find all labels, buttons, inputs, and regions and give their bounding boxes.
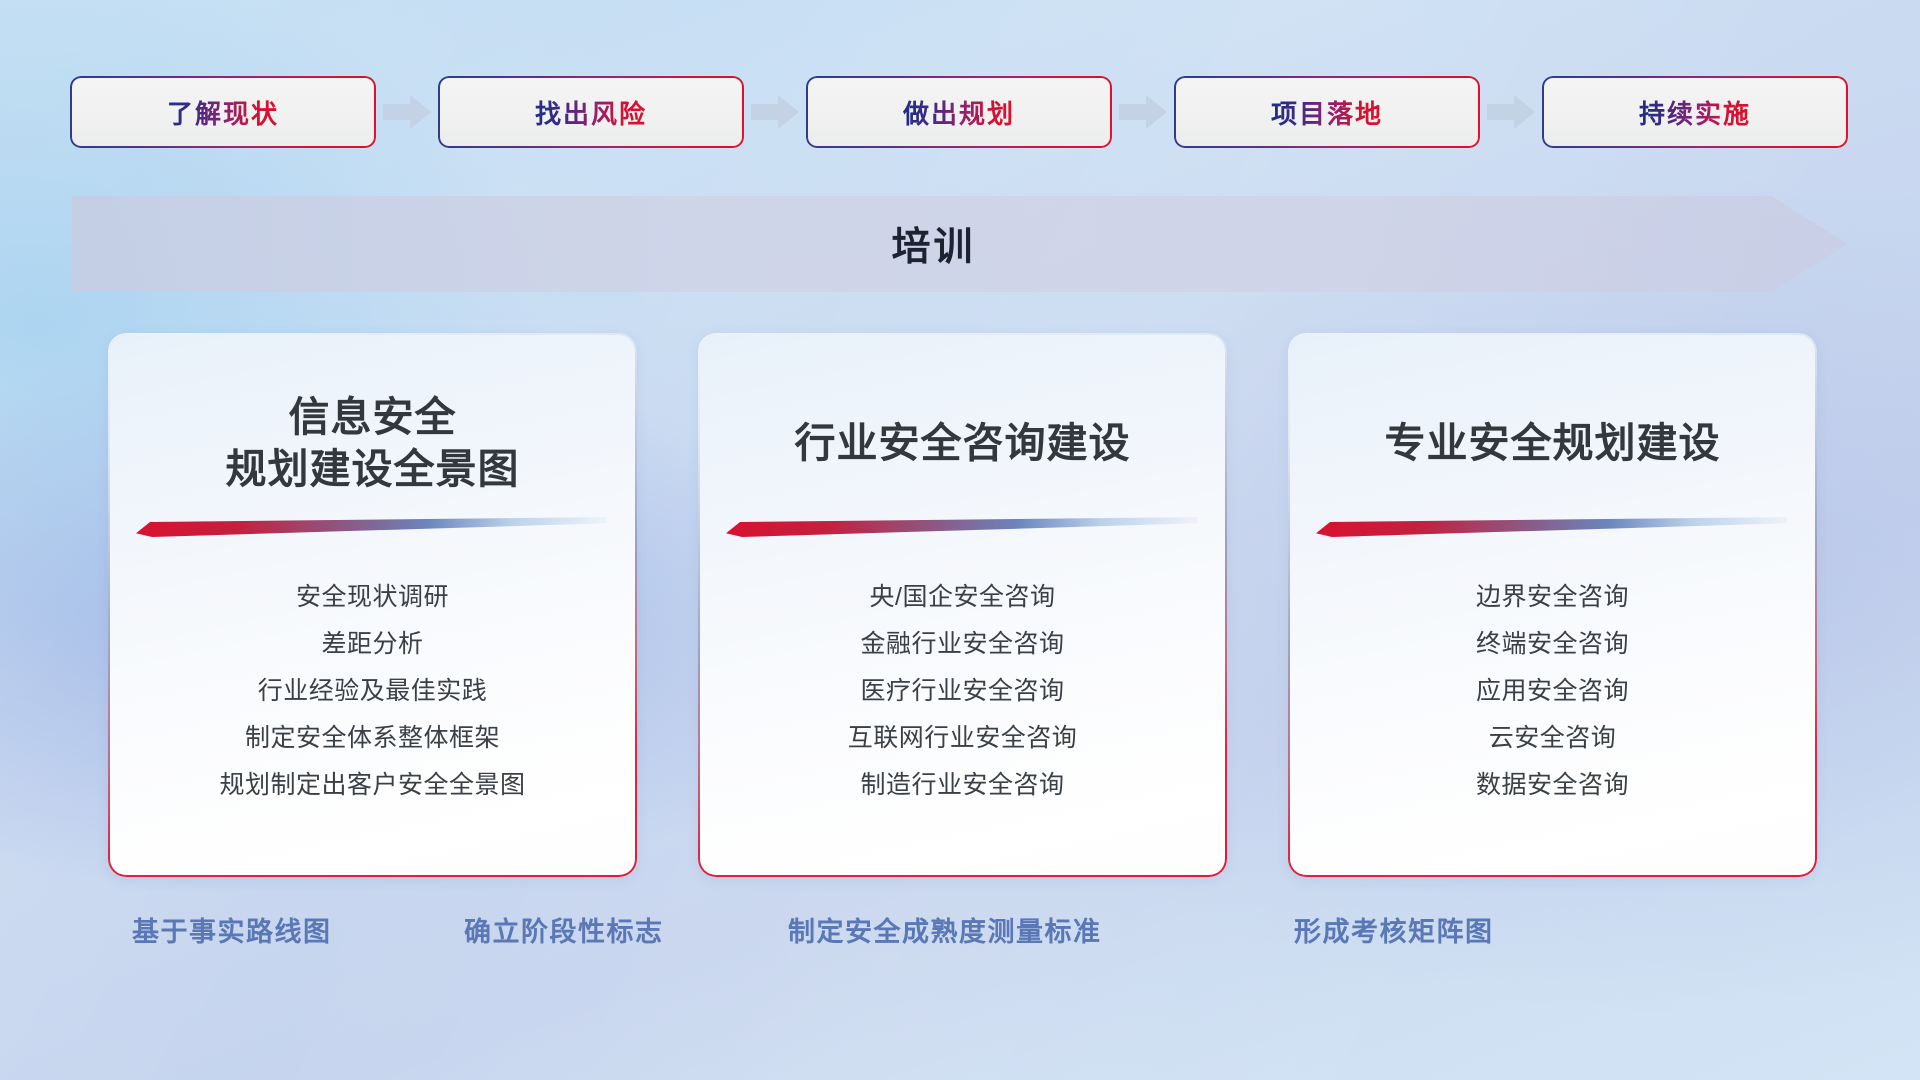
- caption-roadmap: 基于事实路线图: [132, 910, 332, 949]
- list-item: 安全现状调研: [296, 577, 449, 618]
- list-item: 数据安全咨询: [1476, 765, 1629, 806]
- card-item-list: 央/国企安全咨询 金融行业安全咨询 医疗行业安全咨询 互联网行业安全咨询 制造行…: [700, 537, 1225, 875]
- card-item-list: 边界安全咨询 终端安全咨询 应用安全咨询 云安全咨询 数据安全咨询: [1290, 537, 1815, 875]
- list-item: 云安全咨询: [1489, 718, 1617, 759]
- card-title-line: 规划建设全景图: [226, 443, 520, 495]
- process-step-2[interactable]: 找出风险: [440, 78, 742, 146]
- list-item: 边界安全咨询: [1476, 577, 1629, 618]
- arrow-right-icon: [742, 95, 808, 129]
- card-title-line: 专业安全规划建设: [1385, 417, 1721, 469]
- list-item: 制造行业安全咨询: [860, 765, 1064, 806]
- card-item-list: 安全现状调研 差距分析 行业经验及最佳实践 制定安全体系整体框架 规划制定出客户…: [110, 537, 635, 875]
- card-divider: [136, 517, 607, 537]
- process-step-label: 持续实施: [1639, 94, 1751, 131]
- caption-matrix: 形成考核矩阵图: [1294, 910, 1494, 949]
- card-divider: [1316, 517, 1787, 537]
- process-step-label: 做出规划: [903, 94, 1015, 131]
- list-item: 互联网行业安全咨询: [848, 718, 1078, 759]
- card-information-security[interactable]: 信息安全 规划建设全景图: [110, 335, 635, 875]
- caption-milestones: 确立阶段性标志: [464, 910, 664, 949]
- card-title: 行业安全咨询建设: [700, 335, 1225, 517]
- arrow-right-icon: [1478, 95, 1544, 129]
- list-item: 制定安全体系整体框架: [245, 718, 500, 759]
- card-title: 信息安全 规划建设全景图: [110, 335, 635, 517]
- card-industry-security-consulting[interactable]: 行业安全咨询建设: [700, 335, 1225, 875]
- arrow-right-icon: [1110, 95, 1176, 129]
- caption-maturity: 制定安全成熟度测量标准: [788, 910, 1102, 949]
- process-step-5[interactable]: 持续实施: [1544, 78, 1846, 146]
- card-title-line: 行业安全咨询建设: [795, 417, 1131, 469]
- list-item: 央/国企安全咨询: [870, 577, 1056, 618]
- card-group: 信息安全 规划建设全景图: [110, 335, 1815, 875]
- card-professional-security-planning[interactable]: 专业安全规划建设: [1290, 335, 1815, 875]
- process-step-label: 项目落地: [1271, 94, 1383, 131]
- list-item: 应用安全咨询: [1476, 671, 1629, 712]
- card-title-line: 信息安全: [226, 391, 520, 443]
- list-item: 行业经验及最佳实践: [258, 671, 488, 712]
- process-step-4[interactable]: 项目落地: [1176, 78, 1478, 146]
- arrow-right-icon: [374, 95, 440, 129]
- process-flow: 了解现状 找出风险 做出规划 项目落地 持续实施: [72, 78, 1862, 146]
- caption-row: 基于事实路线图 确立阶段性标志 制定安全成熟度测量标准 形成考核矩阵图: [0, 910, 1920, 964]
- card-title: 专业安全规划建设: [1290, 335, 1815, 517]
- list-item: 规划制定出客户安全全景图: [219, 765, 525, 806]
- process-step-label: 了解现状: [167, 94, 279, 131]
- training-banner: 培训: [72, 196, 1847, 292]
- list-item: 医疗行业安全咨询: [860, 671, 1064, 712]
- list-item: 差距分析: [321, 624, 423, 665]
- card-divider: [726, 517, 1197, 537]
- process-step-label: 找出风险: [535, 94, 647, 131]
- process-step-3[interactable]: 做出规划: [808, 78, 1110, 146]
- banner-title: 培训: [72, 196, 1847, 292]
- process-step-1[interactable]: 了解现状: [72, 78, 374, 146]
- list-item: 终端安全咨询: [1476, 624, 1629, 665]
- list-item: 金融行业安全咨询: [860, 624, 1064, 665]
